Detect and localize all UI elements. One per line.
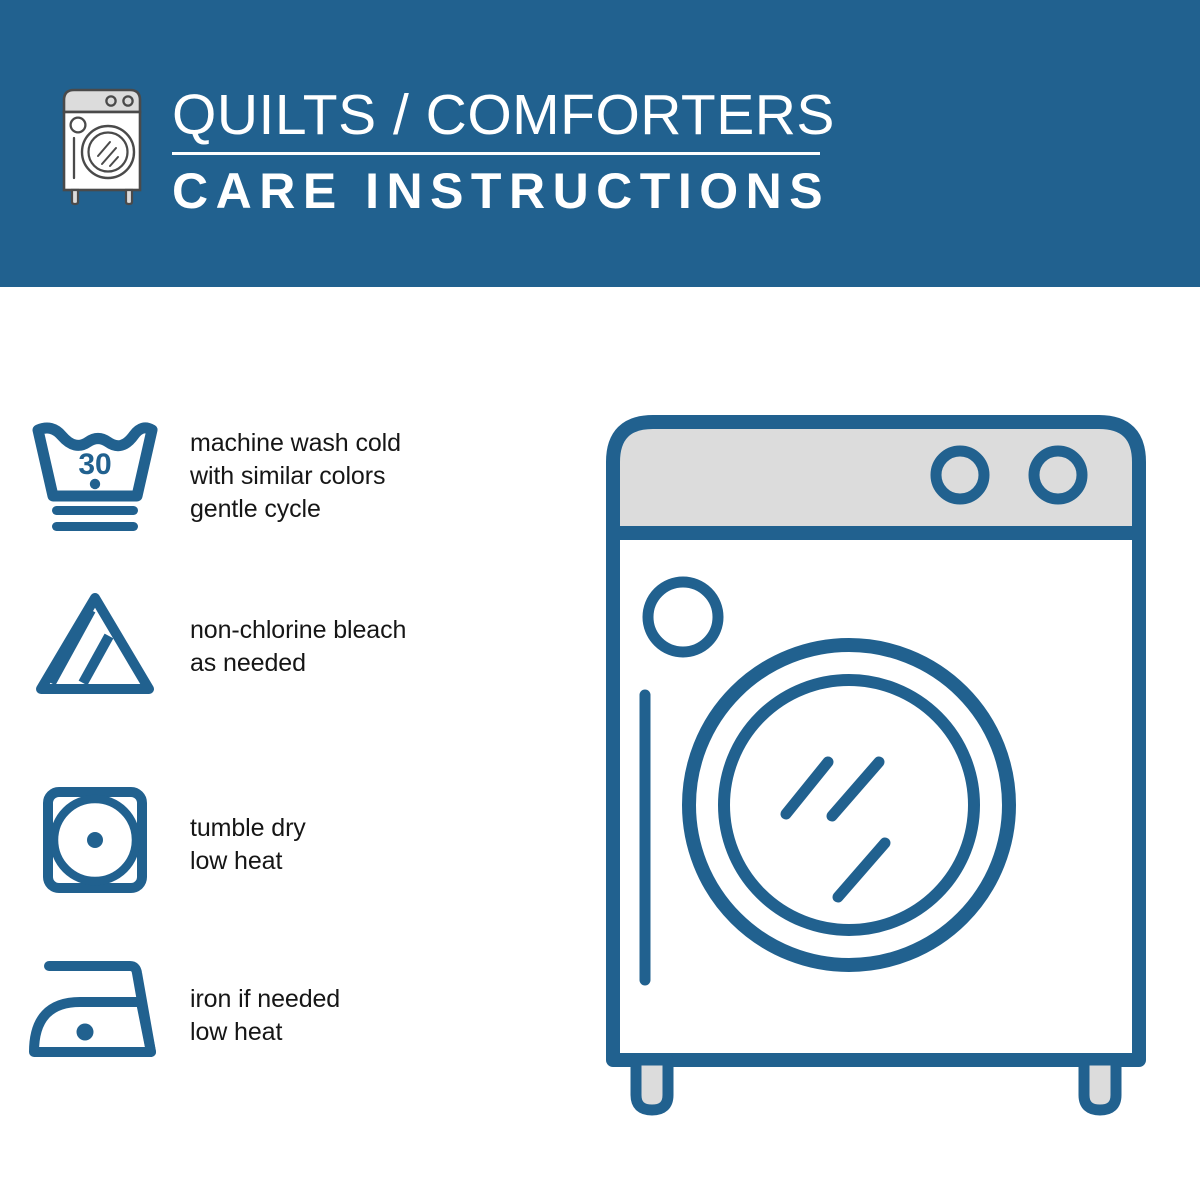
- care-text-line: non-chlorine bleach: [190, 614, 520, 647]
- care-row-machine-wash: 30 machine wash cold with similar colors…: [0, 418, 520, 536]
- care-text-bleach: non-chlorine bleach as needed: [190, 588, 520, 680]
- page-title: QUILTS / COMFORTERS: [172, 84, 832, 146]
- care-row-tumble-dry: tumble dry low heat: [0, 785, 520, 895]
- care-text-line: with similar colors: [190, 460, 520, 493]
- care-text-iron: iron if needed low heat: [190, 955, 520, 1049]
- detergent-drawer-circle: [648, 582, 718, 652]
- door-streak-lines: [786, 762, 885, 897]
- care-text-line: iron if needed: [190, 983, 520, 1016]
- care-text-line: as needed: [190, 647, 520, 680]
- care-row-bleach: non-chlorine bleach as needed: [0, 588, 520, 698]
- care-text-tumble-dry: tumble dry low heat: [190, 785, 520, 878]
- washing-machine-icon: [54, 82, 162, 206]
- page-header: QUILTS / COMFORTERS CARE INSTRUCTIONS: [0, 0, 1200, 287]
- care-text-line: low heat: [190, 1016, 520, 1049]
- wash-temperature-label: 30: [78, 448, 111, 481]
- control-panel: [613, 422, 1139, 533]
- front-load-washing-machine-illustration: [596, 405, 1156, 1120]
- leg-left: [636, 1060, 668, 1110]
- care-row-iron: iron if needed low heat: [0, 955, 520, 1065]
- tumble-dry-low-heat-icon: [0, 785, 190, 895]
- title-divider: [172, 152, 820, 155]
- care-text-line: tumble dry: [190, 812, 520, 845]
- page-subtitle: CARE INSTRUCTIONS: [172, 163, 832, 219]
- iron-low-heat-icon: [0, 955, 190, 1065]
- door-outer-ring: [689, 645, 1009, 965]
- bleach-triangle-non-chlorine-icon: [0, 588, 190, 698]
- care-text-line: low heat: [190, 845, 520, 878]
- care-text-line: machine wash cold: [190, 427, 520, 460]
- care-instructions-page: QUILTS / COMFORTERS CARE INSTRUCTIONS 30…: [0, 0, 1200, 1200]
- care-text-line: gentle cycle: [190, 493, 520, 526]
- wash-tub-30-gentle-icon: 30: [0, 418, 190, 536]
- leg-right: [1084, 1060, 1116, 1110]
- care-text-machine-wash: machine wash cold with similar colors ge…: [190, 418, 520, 526]
- header-title-block: QUILTS / COMFORTERS CARE INSTRUCTIONS: [172, 84, 832, 219]
